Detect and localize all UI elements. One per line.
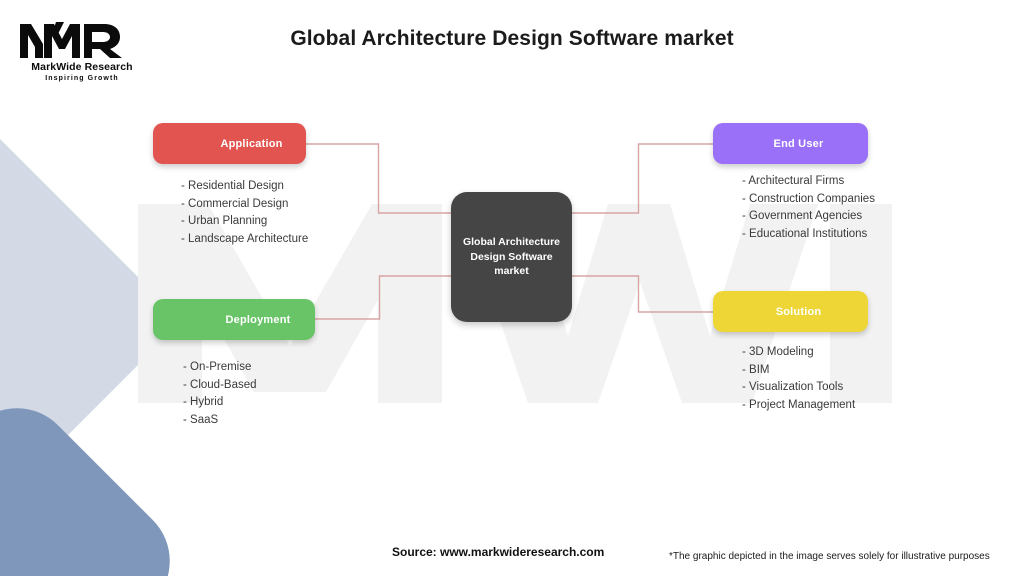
list-item: - Residential Design [181,178,308,196]
center-node-label: Global Architecture Design Software mark… [462,235,562,279]
list-item: - Government Agencies [742,208,875,226]
slide-canvas: MarkWide Research Inspiring Growth Globa… [0,0,1024,576]
decorative-shape-dark [0,384,194,576]
branch-solution[interactable]: Solution [713,291,868,332]
list-item: - 3D Modeling [742,344,855,362]
list-item: - Hybrid [183,394,257,412]
branch-solution-items: - 3D Modeling - BIM - Visualization Tool… [742,344,855,414]
list-item: - Cloud-Based [183,377,257,395]
branch-end-user[interactable]: End User [713,123,868,164]
list-item: - Educational Institutions [742,226,875,244]
connector-deployment [315,276,451,319]
source-label[interactable]: Source: www.markwideresearch.com [392,545,604,559]
center-node[interactable]: Global Architecture Design Software mark… [451,192,572,322]
branch-deployment-label: Deployment [226,314,291,326]
logo-company-name: MarkWide Research [18,61,146,73]
page-title: Global Architecture Design Software mark… [0,27,1024,51]
branch-application[interactable]: Application [153,123,306,164]
branch-solution-label: Solution [776,306,822,318]
logo-tagline: Inspiring Growth [18,75,146,82]
connector-end-user [572,144,713,213]
connector-application [306,144,451,213]
branch-application-label: Application [220,138,282,150]
connector-solution [572,276,713,312]
list-item: - Project Management [742,397,855,415]
list-item: - Architectural Firms [742,173,875,191]
branch-application-items: - Residential Design - Commercial Design… [181,178,308,248]
list-item: - Landscape Architecture [181,231,308,249]
list-item: - BIM [742,362,855,380]
list-item: - On-Premise [183,359,257,377]
branch-deployment[interactable]: Deployment [153,299,315,340]
branch-end-user-label: End User [774,138,824,150]
branch-deployment-items: - On-Premise - Cloud-Based - Hybrid - Sa… [183,359,257,429]
list-item: - Construction Companies [742,191,875,209]
list-item: - SaaS [183,412,257,430]
disclaimer-label: *The graphic depicted in the image serve… [669,551,990,562]
list-item: - Commercial Design [181,196,308,214]
list-item: - Visualization Tools [742,379,855,397]
list-item: - Urban Planning [181,213,308,231]
branch-end-user-items: - Architectural Firms - Construction Com… [742,173,875,243]
